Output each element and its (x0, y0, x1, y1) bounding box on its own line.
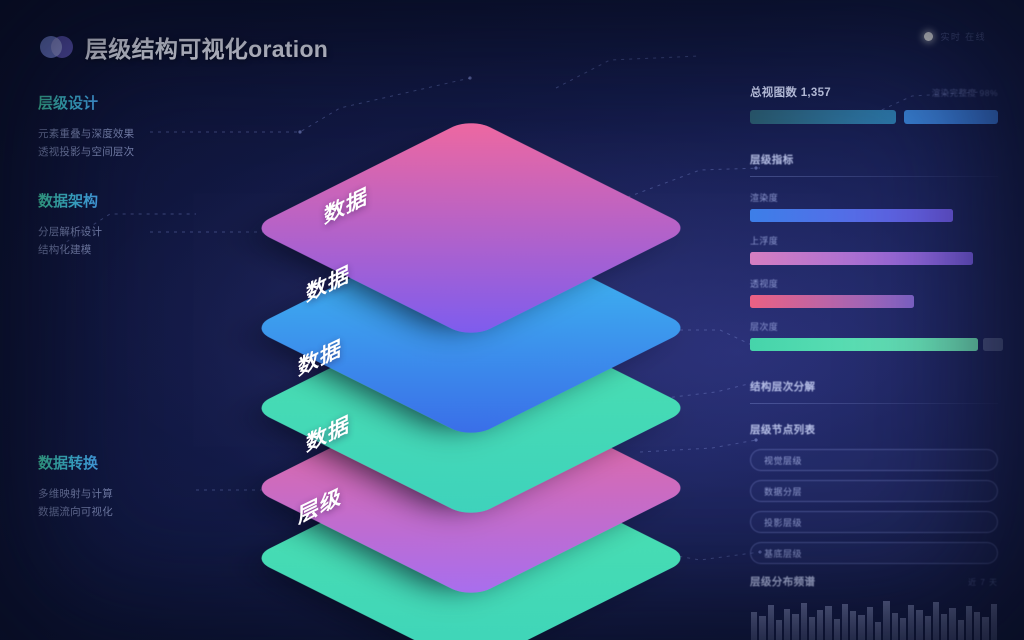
page-header: 层级结构可视化oration (40, 30, 328, 64)
spectrum-bar (966, 606, 972, 640)
spectrum-bar (908, 605, 914, 640)
metric-fill (750, 252, 973, 265)
section-title-structure: 结构层次分解 (750, 379, 998, 394)
metric-track (750, 252, 998, 265)
metric-row: 透视度 (750, 277, 998, 308)
divider (750, 403, 998, 404)
node-pill[interactable]: 投影层级 (750, 511, 998, 533)
spectrum-bar (949, 608, 955, 640)
spectrum-section: 层级分布频谱 近 7 天 0105091317212529 (750, 574, 998, 640)
status-dot-icon (924, 32, 933, 41)
annotation-heading: 数据架构 (38, 190, 98, 211)
kpi-header: 总视图数 1,357 渲染完整度 98% (750, 84, 998, 100)
kpi-subtext: 渲染完整度 98% (932, 87, 998, 99)
divider (750, 176, 998, 177)
spectrum-bar (825, 606, 831, 640)
spectrum-bar (916, 610, 922, 640)
metrics-section: 层级指标 渲染度上浮度透视度层次度 (750, 152, 998, 351)
metric-fill (750, 338, 978, 351)
spectrum-bar (759, 616, 765, 640)
node-pill[interactable]: 基底层级 (750, 542, 998, 564)
metric-fill (750, 295, 914, 308)
spectrum-bars (750, 601, 998, 640)
metric-label: 上浮度 (750, 234, 998, 247)
page-title: 层级结构可视化oration (85, 30, 328, 64)
spectrum-bar (784, 609, 790, 640)
section-title-spectrum: 层级分布频谱 (750, 574, 815, 589)
metric-row: 上浮度 (750, 234, 998, 265)
section-subtitle-nodes: 层级节点列表 (750, 422, 998, 437)
spectrum-header: 层级分布频谱 近 7 天 (750, 574, 998, 589)
spectrum-bar (925, 616, 931, 640)
node-pill-list: 视觉层级数据分层投影层级基底层级 (750, 449, 998, 564)
metric-row: 层次度 (750, 320, 998, 351)
structure-section: 结构层次分解 层级节点列表 视觉层级数据分层投影层级基底层级 (750, 379, 998, 564)
dashboard-root: 层级结构可视化oration 实时 在线 层级设计 元素重叠与深度效果 透视投影… (0, 0, 1024, 640)
metric-row: 渲染度 (750, 191, 998, 222)
node-pill[interactable]: 视觉层级 (750, 449, 998, 471)
node-pill[interactable]: 数据分层 (750, 480, 998, 502)
spectrum-bar (768, 605, 774, 640)
section-title-metrics: 层级指标 (750, 152, 998, 167)
spectrum-bar (883, 601, 889, 640)
kpi-bar-remaining (904, 110, 998, 124)
metric-tail (983, 338, 1003, 351)
metric-fill (750, 209, 953, 222)
spectrum-bar (801, 603, 807, 640)
spectrum-bar (900, 618, 906, 640)
stack-layer-plate (250, 118, 691, 339)
spectrum-bar (933, 602, 939, 640)
annotation-heading: 数据转换 (38, 452, 98, 473)
spectrum-bar (941, 614, 947, 640)
metric-label: 渲染度 (750, 191, 998, 204)
status-badge: 实时 在线 (924, 30, 986, 43)
metric-track (750, 338, 998, 351)
spectrum-bar (991, 604, 997, 640)
status-label: 实时 在线 (940, 30, 986, 43)
kpi-bar-group (750, 110, 998, 124)
horizontal-bar-list: 渲染度上浮度透视度层次度 (750, 191, 998, 351)
spectrum-bar (776, 620, 782, 640)
spectrum-bar (842, 604, 848, 640)
spectrum-bar (875, 622, 881, 640)
metrics-panel: 总视图数 1,357 渲染完整度 98% 层级指标 渲染度上浮度透视度层次度 结… (750, 84, 998, 640)
annotation-heading: 层级设计 (38, 92, 98, 113)
metric-track (750, 209, 998, 222)
metric-track (750, 295, 998, 308)
metric-label: 透视度 (750, 277, 998, 290)
metric-label: 层次度 (750, 320, 998, 333)
spectrum-bar (834, 619, 840, 640)
spectrum-bar (850, 611, 856, 640)
isometric-layer-stack[interactable]: 数据数据数据数据层级 (236, 60, 736, 580)
spectrum-bar (974, 612, 980, 640)
spectrum-bar (858, 615, 864, 640)
stack-layer[interactable] (236, 78, 706, 318)
spectrum-bar (792, 614, 798, 640)
spectrum-bar (809, 617, 815, 640)
two-circles-logo-icon (40, 34, 74, 60)
kpi-value: 总视图数 1,357 (750, 84, 831, 100)
spectrum-bar (867, 607, 873, 640)
spectrum-bar (817, 610, 823, 640)
spectrum-bar (892, 613, 898, 640)
spectrum-bar (751, 612, 757, 640)
spectrum-range-tag[interactable]: 近 7 天 (968, 577, 998, 588)
spectrum-bar (958, 620, 964, 640)
spectrum-plot (750, 601, 998, 640)
spectrum-bar (982, 617, 988, 640)
kpi-bar-completed (750, 110, 896, 124)
